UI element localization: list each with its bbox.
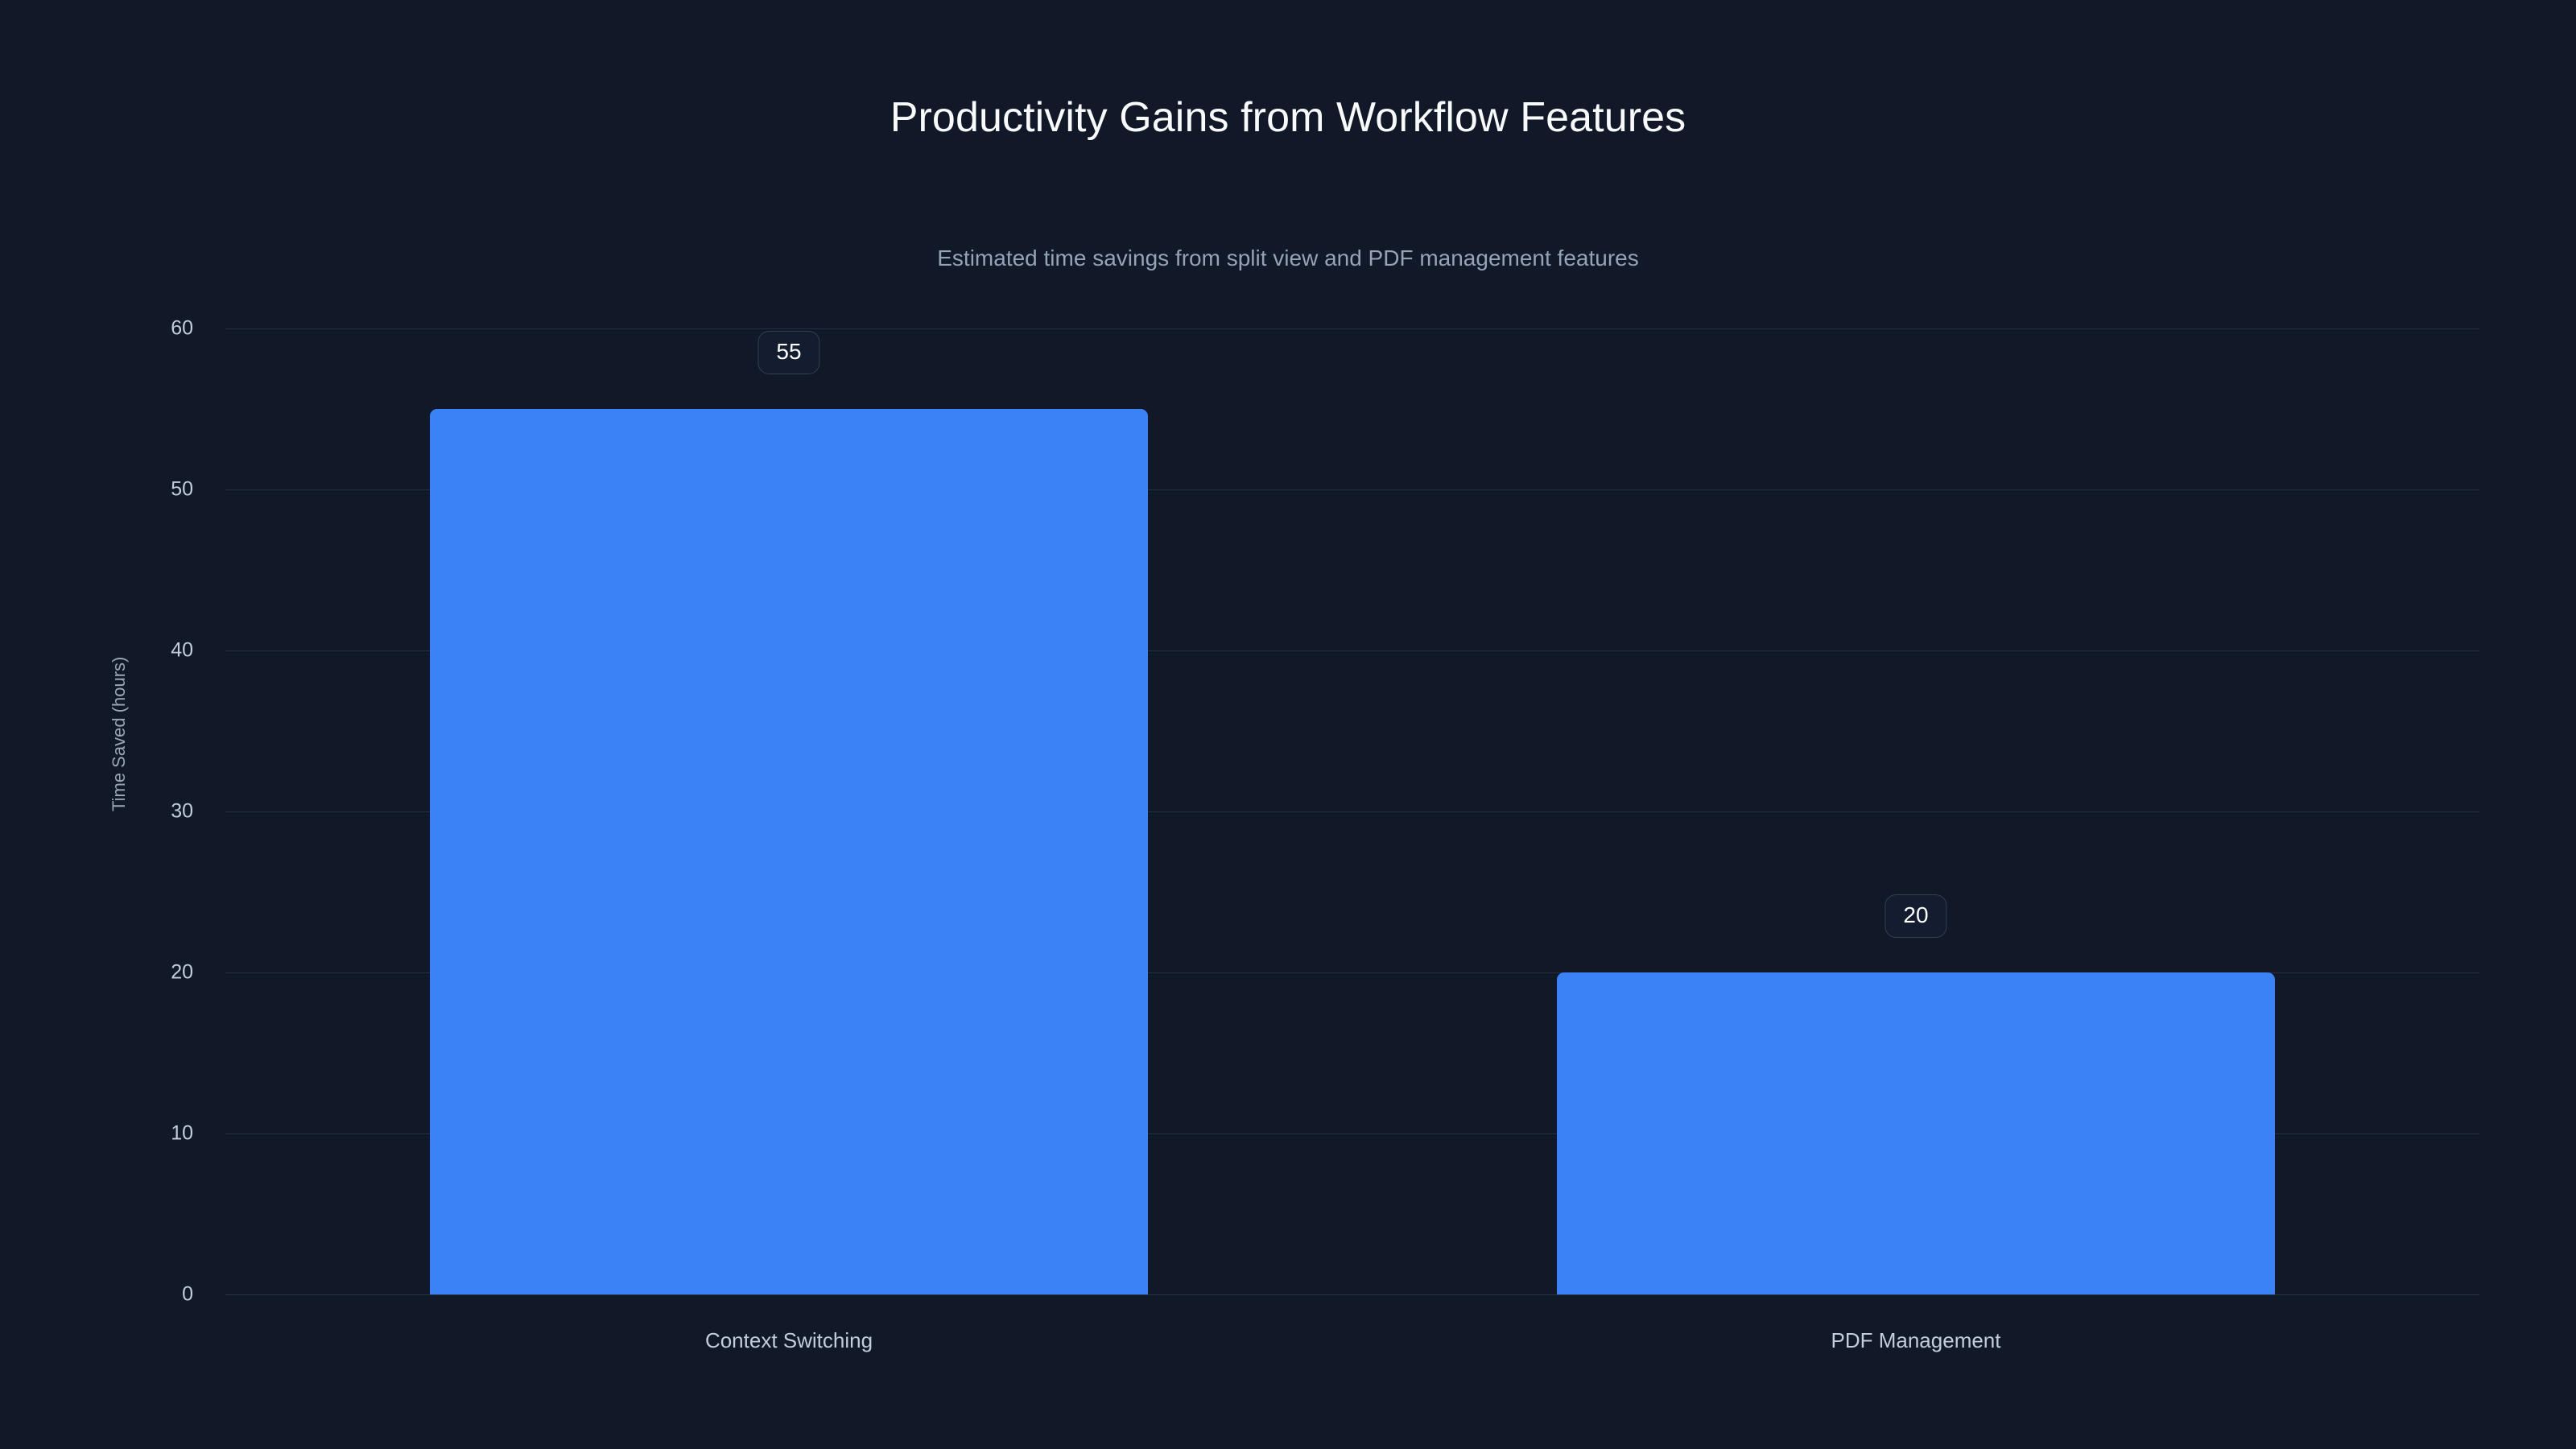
bar-value-label: 20 [1885, 894, 1946, 938]
bar-chart-canvas: Productivity Gains from Workflow Feature… [0, 0, 2576, 1449]
y-axis-tick-label: 40 [171, 639, 193, 663]
page-title: Productivity Gains from Workflow Feature… [0, 95, 2576, 141]
bar[interactable] [1557, 972, 2275, 1294]
x-axis-line [225, 1294, 2479, 1295]
x-axis-tick-label: Context Switching [705, 1328, 873, 1353]
gridline [225, 328, 2479, 329]
y-axis-tick-label: 20 [171, 961, 193, 985]
x-axis-tick-label: PDF Management [1831, 1328, 2001, 1353]
y-axis-tick-label: 50 [171, 478, 193, 502]
y-axis-tick-label: 0 [182, 1283, 193, 1307]
bar-value-label: 55 [758, 331, 819, 374]
y-axis-tick-label: 10 [171, 1122, 193, 1146]
y-axis: 0102030405060 [0, 328, 225, 1294]
bar[interactable] [430, 409, 1148, 1294]
y-axis-tick-label: 60 [171, 317, 193, 341]
chart-subtitle: Estimated time savings from split view a… [0, 246, 2576, 271]
y-axis-label: Time Saved (hours) [109, 657, 130, 811]
y-axis-tick-label: 30 [171, 800, 193, 824]
